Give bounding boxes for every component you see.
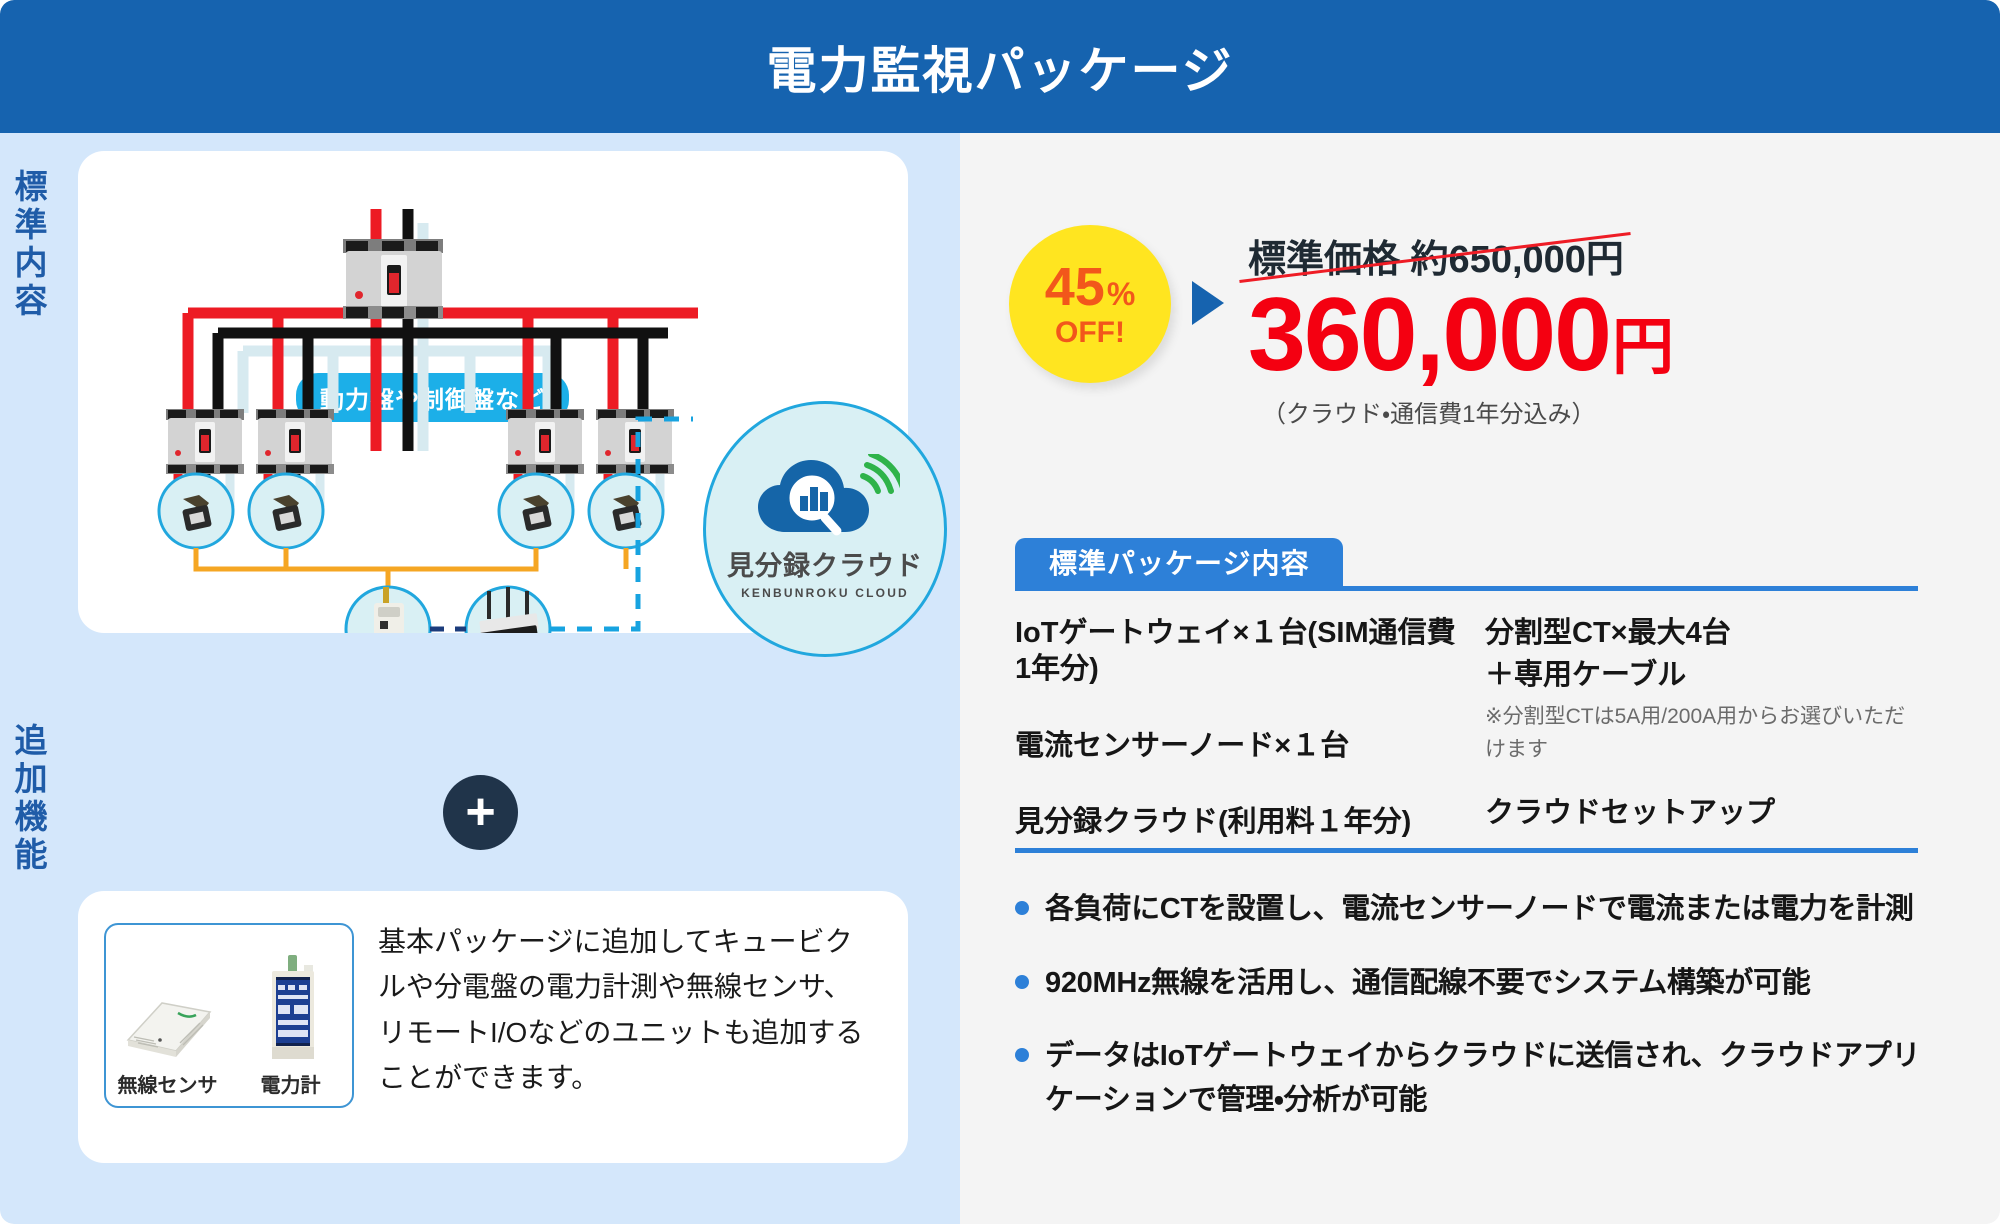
plus-icon: + [443, 775, 518, 850]
device-wireless-sensor: 無線センサ [115, 985, 220, 1098]
package-item: 電流センサーノード×１台 [1015, 728, 1465, 764]
divider-bottom [1015, 848, 1918, 853]
package-contents-tab: 標準パッケージ内容 [1015, 538, 1343, 586]
poster-root: 電力監視パッケージ 標準内容 追加機能 動力盤や制御盤など [0, 0, 2000, 1224]
price-block: 標準価格 約650,000円 360,000 円 （クラウド・通信費1年分込み） [1248, 228, 1968, 429]
bullet-text: 920MHz無線を活用し、通信配線不要でシステム構築が可能 [1045, 962, 1810, 1006]
cloud-logo-subtitle: KENBUNROKU CLOUD [741, 586, 909, 600]
system-diagram-card: 動力盤や制御盤など [78, 151, 908, 633]
package-column-left: IoTゲートウェイ×１台(SIM通信費1年分) 電流センサーノード×１台 見分録… [1015, 615, 1465, 880]
current-sensor-node [346, 587, 430, 633]
right-panel: 45 % OFF! 標準価格 約650,000円 360,000 円 （クラウド… [960, 133, 2000, 1224]
power-meter-image [254, 955, 328, 1063]
device-power-meter-label: 電力計 [261, 1069, 321, 1098]
extra-features-card: 無線センサ [78, 891, 908, 1163]
section-label-standard: 標準内容 [12, 169, 45, 321]
package-item: クラウドセットアップ [1485, 795, 1915, 831]
ct-sensor-2 [249, 474, 323, 548]
feature-bullet-list: 各負荷にCTを設置し、電流センサーノードで電流または電力を計測 920MHz無線… [1015, 888, 1935, 1152]
device-power-meter: 電力計 [238, 955, 343, 1098]
ct-sensor-1 [159, 474, 233, 548]
ct-sensor-3 [499, 474, 573, 548]
device-wireless-sensor-label: 無線センサ [118, 1069, 218, 1098]
iot-gateway [466, 587, 550, 633]
branch-breaker-4 [596, 409, 674, 474]
section-label-extra: 追加機能 [12, 723, 45, 875]
currency-symbol: 円 [1612, 319, 1674, 384]
left-panel: 標準内容 追加機能 動力盤や制御盤など [0, 133, 960, 1224]
extra-features-description: 基本パッケージに追加してキュービクルや分電盤の電力計測や無線センサ、リモートI/… [378, 919, 878, 1100]
bullet-text: データはIoTゲートウェイからクラウドに送信され、クラウドアプリケーションで管理… [1045, 1035, 1935, 1122]
bullet-text: 各負荷にCTを設置し、電流センサーノードで電流または電力を計測 [1045, 888, 1914, 932]
package-item: 見分録クラウド(利用料１年分) [1015, 804, 1465, 840]
bullet-dot-icon [1015, 1048, 1029, 1062]
cloud-logo-name: 見分録クラウド [727, 544, 923, 583]
discount-percent: 45 % [1045, 260, 1136, 314]
list-item: データはIoTゲートウェイからクラウドに送信され、クラウドアプリケーションで管理… [1015, 1035, 1935, 1122]
plus-symbol: + [465, 793, 495, 832]
discount-off-label: OFF! [1055, 318, 1125, 348]
discounted-amount: 360,000 [1248, 287, 1610, 384]
extra-devices-box: 無線センサ [104, 923, 354, 1108]
main-breaker [343, 239, 443, 319]
divider-top [1015, 586, 1918, 591]
package-item-note: ※分割型CTは5A用/200A用からお選びいただけます [1485, 700, 1915, 767]
package-item: ＋専用ケーブル [1485, 657, 1915, 693]
branch-breaker-3 [506, 409, 584, 474]
discount-number: 45 [1045, 260, 1105, 314]
list-item: 920MHz無線を活用し、通信配線不要でシステム構築が可能 [1015, 962, 1935, 1006]
wireless-sensor-image [118, 985, 218, 1063]
branch-breaker-1 [166, 409, 244, 474]
discounted-price: 360,000 円 [1248, 287, 1968, 384]
page-title: 電力監視パッケージ [767, 31, 1234, 103]
bullet-dot-icon [1015, 901, 1029, 915]
page-header: 電力監視パッケージ [0, 0, 2000, 133]
bullet-dot-icon [1015, 975, 1029, 989]
kenbunroku-cloud-logo: 見分録クラウド KENBUNROKU CLOUD [703, 401, 947, 657]
original-price: 標準価格 約650,000円 [1248, 228, 1624, 283]
cloud-chart-icon [750, 454, 900, 540]
ct-sensor-4 [589, 474, 663, 548]
branch-breaker-2 [256, 409, 334, 474]
package-column-right: 分割型CT×最大4台 ＋専用ケーブル ※分割型CTは5A用/200A用からお選び… [1465, 615, 1915, 880]
package-item: 分割型CT×最大4台 [1485, 615, 1915, 651]
percent-symbol: % [1107, 278, 1135, 310]
arrow-right-icon [1192, 281, 1224, 325]
discount-badge: 45 % OFF! [1009, 225, 1171, 383]
package-contents: IoTゲートウェイ×１台(SIM通信費1年分) 電流センサーノード×１台 見分録… [1015, 615, 1925, 880]
list-item: 各負荷にCTを設置し、電流センサーノードで電流または電力を計測 [1015, 888, 1935, 932]
package-item: IoTゲートウェイ×１台(SIM通信費1年分) [1015, 615, 1465, 688]
price-note: （クラウド・通信費1年分込み） [1262, 394, 1968, 429]
